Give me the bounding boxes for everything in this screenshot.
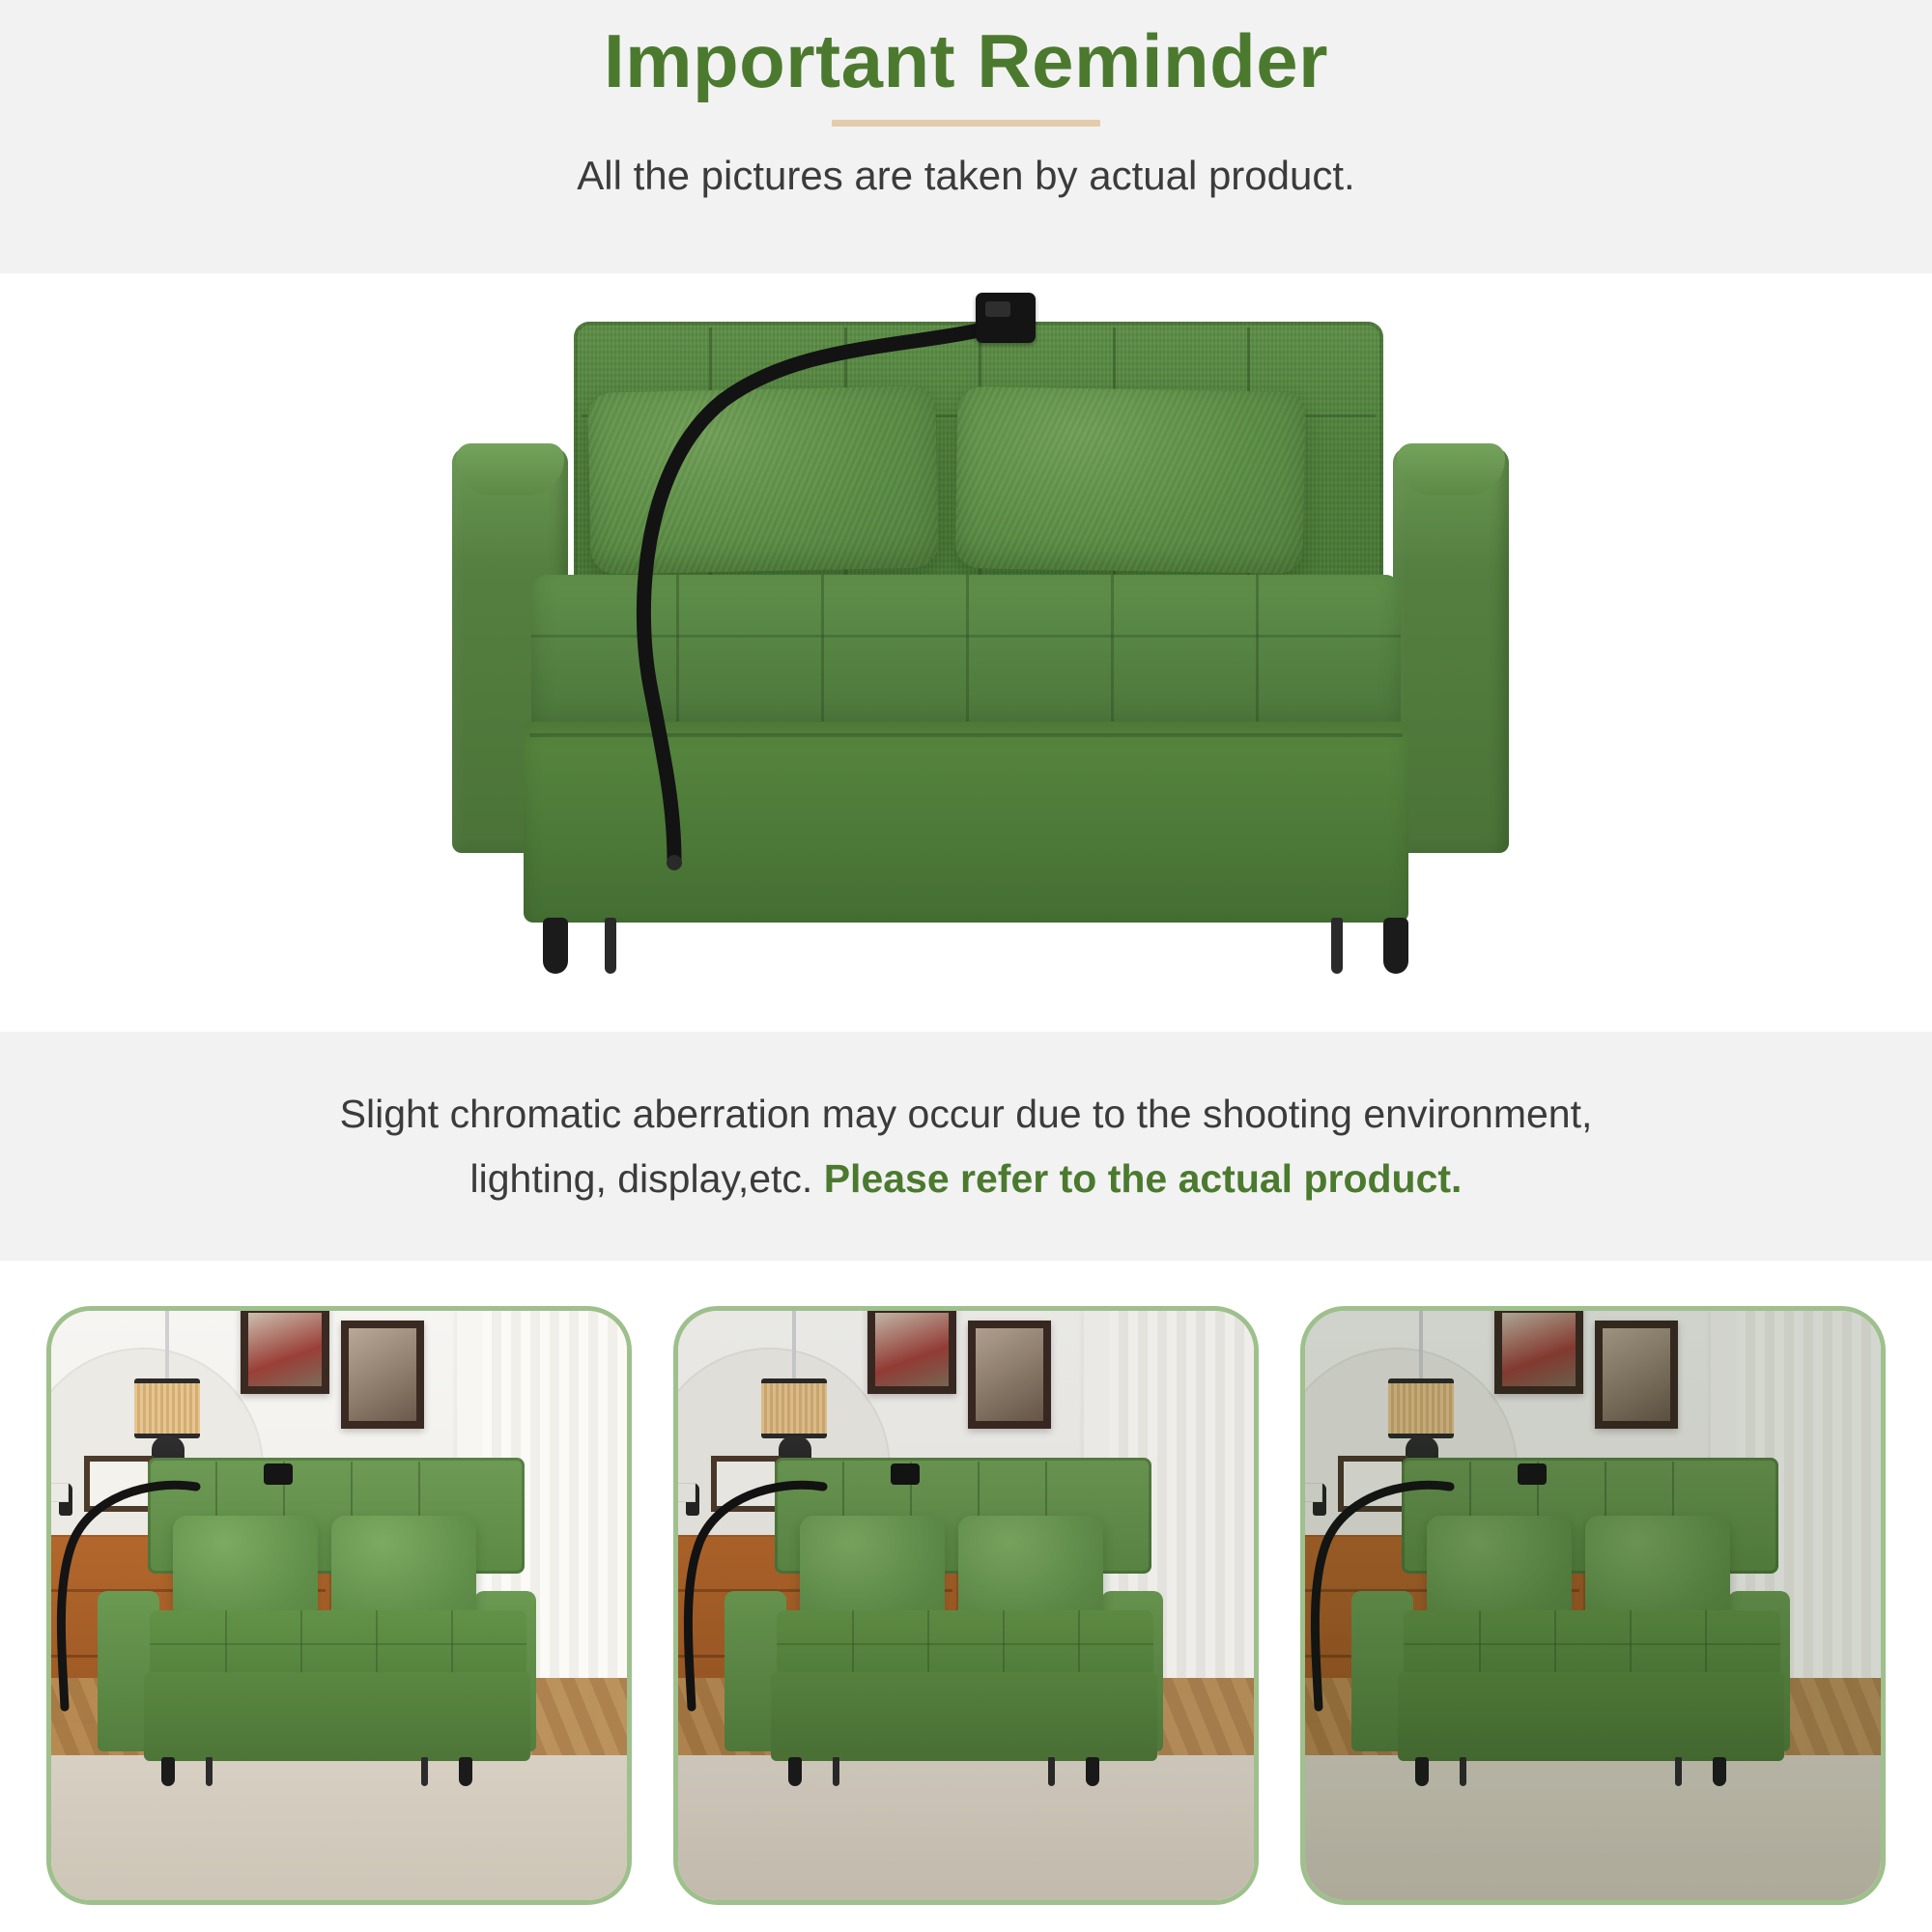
page-title: Important Reminder	[604, 19, 1328, 103]
product-reminder-page: Important Reminder All the pictures are …	[0, 0, 1932, 1932]
power-cord-icon	[51, 1475, 225, 1717]
thumbnail-living-room-light[interactable]	[46, 1306, 632, 1905]
notice-line-1: Slight chromatic aberration may occur du…	[340, 1082, 1593, 1146]
thumbnail-living-room-medium[interactable]	[673, 1306, 1259, 1905]
sofa-arm-right	[1393, 447, 1509, 853]
usb-power-module-icon	[976, 293, 1036, 343]
wall-art-icon	[867, 1311, 956, 1394]
page-subtitle: All the pictures are taken by actual pro…	[577, 153, 1354, 199]
wall-art-icon	[341, 1321, 424, 1429]
wall-art-icon	[1494, 1311, 1583, 1394]
thumbnail-living-room-dark[interactable]	[1300, 1306, 1886, 1905]
sofa-leg	[605, 918, 616, 974]
sofa-leg	[543, 918, 568, 974]
thumbnail-row	[0, 1285, 1932, 1932]
table-lamp-icon	[1388, 1378, 1454, 1438]
throw-pillow-left	[587, 385, 939, 574]
title-divider	[832, 120, 1100, 127]
notice-line-2: lighting, display,etc. Please refer to t…	[340, 1147, 1593, 1210]
wall-art-icon	[241, 1311, 329, 1394]
sofa-illustration	[415, 285, 1526, 1032]
sofa-leg	[1383, 918, 1408, 974]
hero-product-image	[0, 273, 1932, 1032]
notice-text: Slight chromatic aberration may occur du…	[340, 1082, 1593, 1210]
notice-highlight: Please refer to the actual product.	[824, 1156, 1463, 1201]
table-lamp-icon	[134, 1378, 200, 1438]
reminder-header-band: Important Reminder All the pictures are …	[0, 0, 1932, 273]
sofa-pullout-base	[524, 722, 1408, 923]
chromatic-aberration-notice-band: Slight chromatic aberration may occur du…	[0, 1032, 1932, 1261]
power-cord-icon	[678, 1475, 852, 1717]
wall-art-icon	[1595, 1321, 1678, 1429]
notice-line-2-plain: lighting, display,etc.	[470, 1156, 824, 1201]
sofa-leg	[1331, 918, 1343, 974]
power-cord-icon	[1305, 1475, 1479, 1717]
wall-art-icon	[968, 1321, 1051, 1429]
sofa-seat-cushion	[531, 575, 1401, 737]
table-lamp-icon	[761, 1378, 827, 1438]
throw-pillow-right	[954, 386, 1305, 574]
